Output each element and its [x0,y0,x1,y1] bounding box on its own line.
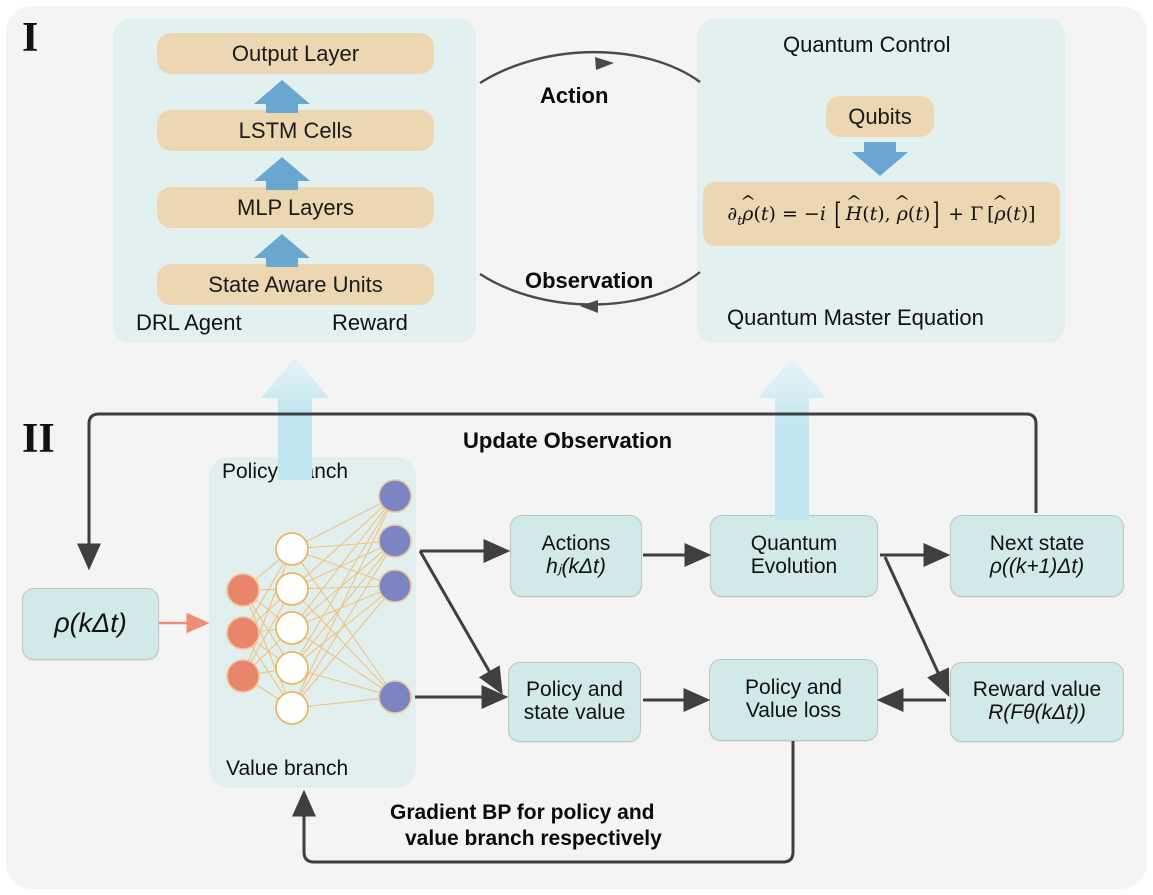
section-label-II: II [22,415,55,463]
figure-root: I II Output Layer LSTM Cells MLP Layers … [0,0,1153,895]
layer-state-aware-units[interactable]: State Aware Units [157,264,434,305]
gradient-bp-label-line1: Gradient BP for policy and [390,801,655,825]
state-box-label: ρ(kΔt) [54,609,127,638]
qubits-box[interactable]: Qubits [826,96,934,137]
policy-value-loss-line1: Policy and [745,677,842,700]
qubits-label: Qubits [848,104,912,130]
reward-caption: Reward [332,310,408,336]
reward-value-line2: R(Fθ(kΔt)) [988,702,1086,725]
drl-agent-caption: DRL Agent [136,310,242,336]
actions-box-line1: Actions [542,533,611,556]
policy-state-value-line2: state value [524,702,626,725]
quantum-evolution-line1: Quantum [751,533,837,556]
section-label-I: I [22,14,38,62]
policy-branch-label: Policy branch [222,460,348,484]
layer-output-layer[interactable]: Output Layer [157,33,434,74]
quantum-master-equation-text: ∂tρ(t) = −i [ H(t), ρ(t)] + Γ [ρ(t)] [727,197,1035,232]
next-state-line1: Next state [990,533,1085,556]
policy-state-value-line1: Policy and [526,679,623,702]
quantum-control-title: Quantum Control [783,32,951,58]
next-state-line2: ρ((k+1)Δt) [990,556,1084,579]
actions-box-line2: hⱼ(kΔt) [546,556,606,579]
quantum-evolution-line2: Evolution [751,556,837,579]
layer-state-aware-units-label: State Aware Units [208,272,382,298]
next-state-box[interactable]: Next state ρ((k+1)Δt) [950,515,1124,597]
quantum-master-equation-caption: Quantum Master Equation [727,305,984,331]
layer-output-layer-label: Output Layer [232,41,359,67]
layer-mlp-layers-label: MLP Layers [237,195,354,221]
layer-mlp-layers[interactable]: MLP Layers [157,187,434,228]
gradient-bp-label-line2: value branch respectively [405,827,662,851]
quantum-evolution-box[interactable]: Quantum Evolution [710,515,878,597]
state-box[interactable]: ρ(kΔt) [22,588,159,660]
actor-critic-network-panel [209,457,416,788]
policy-value-loss-box[interactable]: Policy and Value loss [709,659,878,741]
policy-value-loss-line2: Value loss [746,700,841,723]
layer-lstm-cells-label: LSTM Cells [239,118,353,144]
layer-lstm-cells[interactable]: LSTM Cells [157,110,434,151]
policy-state-value-box[interactable]: Policy and state value [508,662,641,742]
quantum-master-equation-box: ∂tρ(t) = −i [ H(t), ρ(t)] + Γ [ρ(t)] [703,182,1060,246]
action-label: Action [540,83,608,109]
reward-value-line1: Reward value [973,679,1101,702]
update-observation-label: Update Observation [463,428,672,454]
value-branch-label: Value branch [226,757,348,781]
quantum-control-panel [697,18,1065,343]
reward-value-box[interactable]: Reward value R(Fθ(kΔt)) [950,662,1124,742]
observation-label: Observation [525,268,653,294]
actions-box[interactable]: Actions hⱼ(kΔt) [510,515,642,597]
